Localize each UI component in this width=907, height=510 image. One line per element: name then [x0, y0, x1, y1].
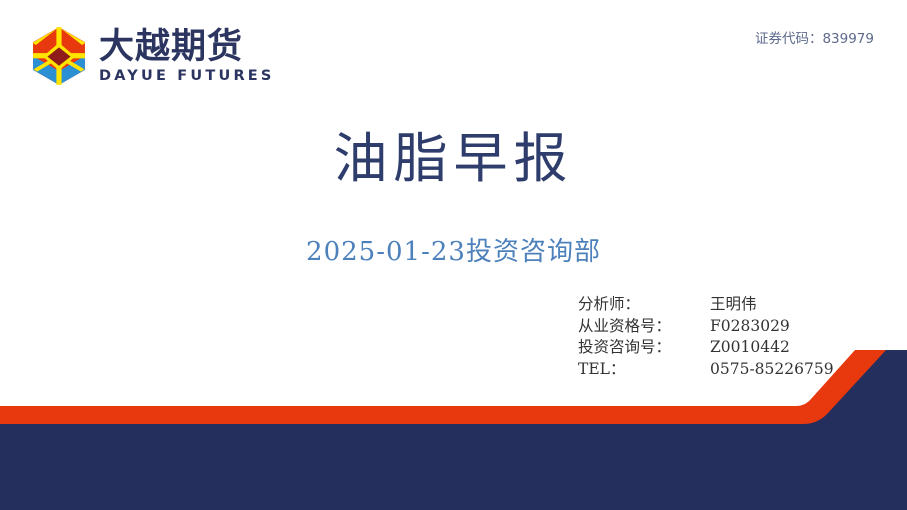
- analyst-name-value: 王明伟: [710, 294, 757, 316]
- brand-lockup: 大越期货 DAYUE FUTURES: [30, 26, 275, 86]
- page-title: 油脂早报: [0, 128, 907, 190]
- slide-page: 大越期货 DAYUE FUTURES 证券代码：839979 油脂早报 2025…: [0, 0, 907, 510]
- qualification-number-value: F0283029: [710, 316, 790, 338]
- qualification-number-label: 从业资格号：: [578, 316, 710, 338]
- analyst-info-row: 分析师： 王明伟: [578, 294, 834, 316]
- footer-decoration: [0, 350, 907, 510]
- page-subtitle: 2025-01-23投资咨询部: [0, 237, 907, 268]
- footer-orange-stripe: [0, 350, 886, 424]
- brand-wordmark: 大越期货 DAYUE FUTURES: [99, 29, 275, 85]
- dayue-hexagon-logo-icon: [30, 26, 88, 86]
- analyst-info-row: 从业资格号： F0283029: [578, 316, 834, 338]
- analyst-name-label: 分析师：: [578, 294, 710, 316]
- stock-code-label: 证券代码：839979: [755, 27, 874, 47]
- brand-name-en: DAYUE FUTURES: [99, 69, 275, 85]
- footer-navy-band: [0, 350, 907, 510]
- title-block: 油脂早报 2025-01-23投资咨询部: [0, 128, 907, 268]
- brand-name-cn: 大越期货: [99, 29, 275, 66]
